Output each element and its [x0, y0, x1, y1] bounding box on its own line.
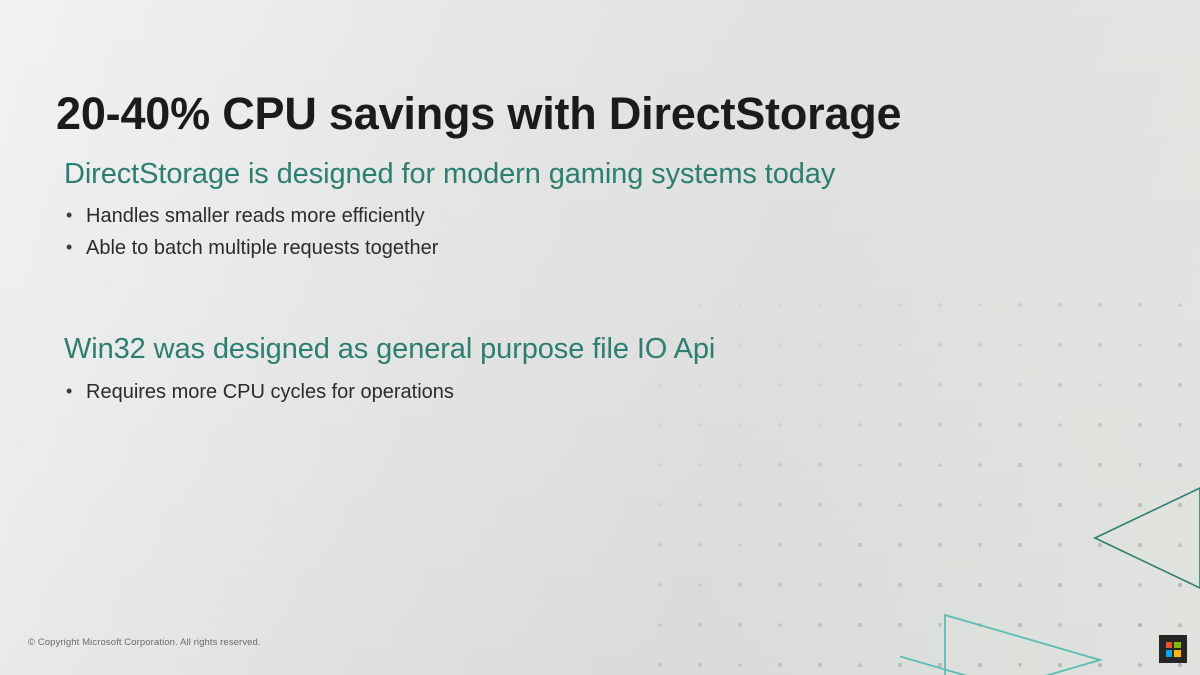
bullet-list: • Requires more CPU cycles for operation…	[64, 377, 964, 409]
logo-square-green	[1174, 642, 1181, 649]
section-win32: Win32 was designed as general purpose fi…	[64, 330, 964, 408]
page-title: 20-40% CPU savings with DirectStorage	[56, 88, 901, 140]
list-item: • Able to batch multiple requests togeth…	[64, 233, 964, 265]
list-item-label: Handles smaller reads more efficiently	[86, 205, 425, 227]
list-item-label: Requires more CPU cycles for operations	[86, 381, 454, 403]
bullet-dot-icon: •	[66, 201, 72, 230]
logo-square-yellow	[1174, 650, 1181, 657]
copyright-notice: © Copyright Microsoft Corporation. All r…	[28, 637, 261, 648]
section-heading: DirectStorage is designed for modern gam…	[64, 155, 964, 193]
list-item: • Handles smaller reads more efficiently	[64, 201, 964, 233]
triangle-left-dark	[1095, 488, 1200, 588]
bullet-dot-icon: •	[66, 377, 72, 406]
triangle-right-light-lower	[900, 655, 1050, 675]
presentation-slide: 20-40% CPU savings with DirectStorage Di…	[0, 0, 1200, 675]
bullet-list: • Handles smaller reads more efficiently…	[64, 201, 964, 264]
decorative-teal-triangles	[900, 455, 1200, 675]
list-item-label: Able to batch multiple requests together	[86, 237, 438, 259]
bullet-dot-icon: •	[66, 233, 72, 262]
section-directstorage: DirectStorage is designed for modern gam…	[64, 155, 964, 264]
section-heading: Win32 was designed as general purpose fi…	[64, 330, 964, 368]
slide-body: DirectStorage is designed for modern gam…	[64, 155, 964, 408]
list-item: • Requires more CPU cycles for operation…	[64, 377, 964, 409]
logo-square-blue	[1166, 650, 1173, 657]
microsoft-logo-squares	[1166, 642, 1181, 657]
logo-square-red	[1166, 642, 1173, 649]
microsoft-logo	[1159, 635, 1187, 663]
triangle-right-light-upper	[945, 615, 1100, 675]
